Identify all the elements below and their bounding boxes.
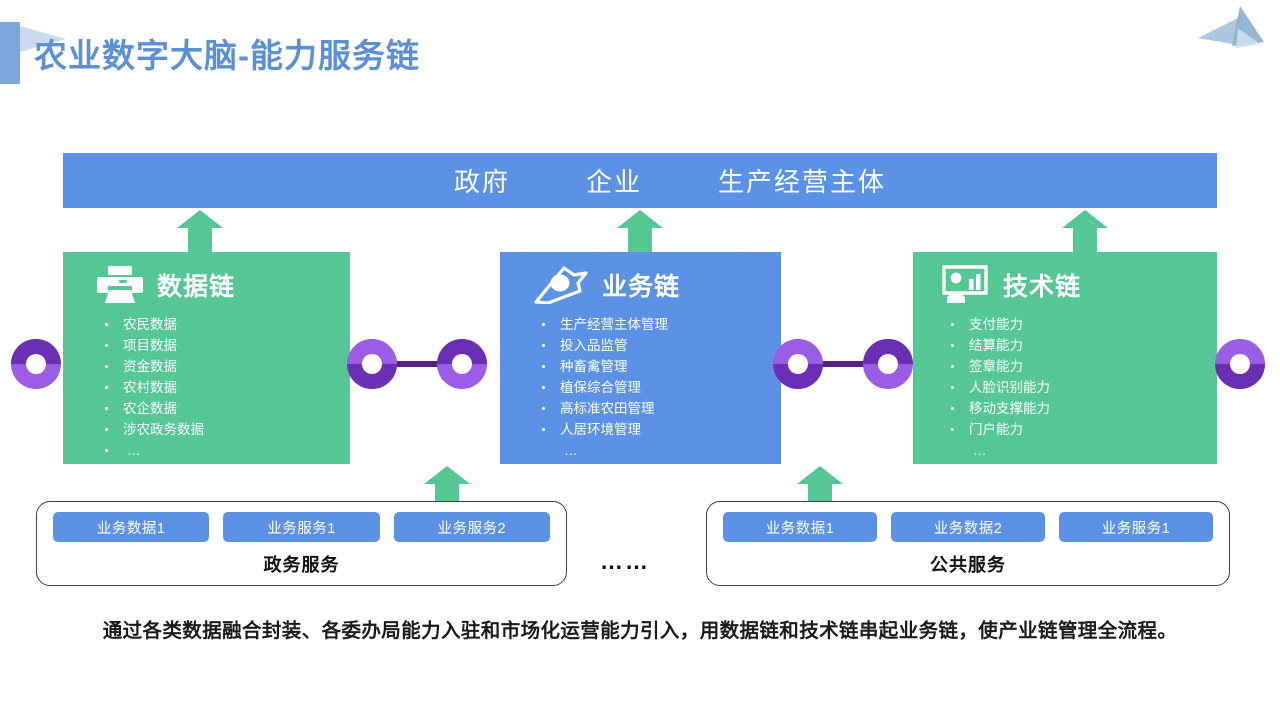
chain-item: 人脸识别能力 <box>943 377 1217 398</box>
chain-list-business: 生产经营主体管理 投入品监管 种畜禽管理 植保综合管理 高标准农田管理 人居环境… <box>500 314 781 461</box>
service-chip[interactable]: 业务服务1 <box>1059 512 1213 542</box>
chain-link-data-to-business <box>344 336 490 397</box>
chain-ring-icon <box>8 336 64 392</box>
title-bar: 农业数字大脑-能力服务链 <box>0 22 420 84</box>
chain-ring-icon <box>1212 336 1268 392</box>
service-chip-row: 业务数据1 业务数据2 业务服务1 <box>707 502 1229 542</box>
service-group-separator: …… <box>600 548 650 575</box>
chain-item: 农村数据 <box>97 377 350 398</box>
arrow-up-icon <box>617 210 663 252</box>
chain-box-business: 业务链 生产经营主体管理 投入品监管 种畜禽管理 植保综合管理 高标准农田管理 … <box>500 252 781 464</box>
chain-item: 高标准农田管理 <box>534 398 781 419</box>
chain-item: 农企数据 <box>97 398 350 419</box>
title-accent-bar <box>0 22 20 84</box>
page-title: 农业数字大脑-能力服务链 <box>34 29 420 77</box>
consumer-enterprise: 企业 <box>586 162 642 199</box>
chain-item: 生产经营主体管理 <box>534 314 781 335</box>
chain-item: 植保综合管理 <box>534 377 781 398</box>
service-chip[interactable]: 业务服务2 <box>394 512 550 542</box>
chain-header-tech: 技术链 <box>913 262 1217 308</box>
chain-item: 资金数据 <box>97 356 350 377</box>
chain-box-tech: 技术链 支付能力 结算能力 签章能力 人脸识别能力 移动支撑能力 门户能力 … <box>913 252 1217 464</box>
service-chip-row: 业务数据1 业务服务1 业务服务2 <box>37 502 566 542</box>
consumer-government: 政府 <box>454 162 510 199</box>
presentation-chart-icon <box>941 265 989 305</box>
pen-nib-icon <box>534 266 588 304</box>
service-chip[interactable]: 业务数据1 <box>723 512 877 542</box>
chain-item: 项目数据 <box>97 335 350 356</box>
chain-item: 涉农政务数据 <box>97 419 350 440</box>
chain-list-data: 农民数据 项目数据 资金数据 农村数据 农企数据 涉农政务数据 … <box>63 314 350 461</box>
service-group-public: 业务数据1 业务数据2 业务服务1 公共服务 <box>706 501 1230 586</box>
service-chip[interactable]: 业务数据2 <box>891 512 1045 542</box>
service-group-label-government: 政务服务 <box>37 551 566 577</box>
chain-double-ring-icon <box>344 336 490 392</box>
arrow-up-icon <box>177 210 223 252</box>
chain-link-business-to-tech <box>770 336 916 397</box>
chain-item: 移动支撑能力 <box>943 398 1217 419</box>
chain-link-left-edge <box>8 336 64 397</box>
arrow-up-business-to-consumer <box>617 210 663 252</box>
chain-title-business: 业务链 <box>602 267 680 303</box>
chain-item: 农民数据 <box>97 314 350 335</box>
chain-box-data: 数据链 农民数据 项目数据 资金数据 农村数据 农企数据 涉农政务数据 … <box>63 252 350 464</box>
chain-title-tech: 技术链 <box>1003 267 1081 303</box>
chain-item: 结算能力 <box>943 335 1217 356</box>
corner-triangles-icon <box>1182 2 1272 54</box>
chain-item: 投入品监管 <box>534 335 781 356</box>
service-chip[interactable]: 业务服务1 <box>223 512 379 542</box>
chain-item-more: … <box>97 440 350 461</box>
arrow-up-data-to-consumer <box>177 210 223 252</box>
chain-item: 门户能力 <box>943 419 1217 440</box>
service-chip[interactable]: 业务数据1 <box>53 512 209 542</box>
chain-list-tech: 支付能力 结算能力 签章能力 人脸识别能力 移动支撑能力 门户能力 … <box>913 314 1217 461</box>
chain-item: 签章能力 <box>943 356 1217 377</box>
printer-icon <box>97 266 143 304</box>
summary-caption: 通过各类数据融合封装、各委办局能力入驻和市场化运营能力引入，用数据链和技术链串起… <box>0 614 1280 643</box>
service-group-label-public: 公共服务 <box>707 551 1229 577</box>
chain-item-more: … <box>943 440 1217 461</box>
chain-item-more: … <box>534 440 781 461</box>
corner-decoration <box>1182 2 1272 54</box>
chain-link-right-edge <box>1212 336 1268 397</box>
consumer-bar: 政府 企业 生产经营主体 <box>63 153 1217 208</box>
chain-item: 人居环境管理 <box>534 419 781 440</box>
chain-header-data: 数据链 <box>63 262 350 308</box>
arrow-up-icon <box>1062 210 1108 252</box>
consumer-production-entity: 生产经营主体 <box>718 162 886 199</box>
chain-item: 支付能力 <box>943 314 1217 335</box>
chain-header-business: 业务链 <box>500 262 781 308</box>
arrow-up-tech-to-consumer <box>1062 210 1108 252</box>
chain-item: 种畜禽管理 <box>534 356 781 377</box>
service-group-government: 业务数据1 业务服务1 业务服务2 政务服务 <box>36 501 567 586</box>
chain-double-ring-icon <box>770 336 916 392</box>
chain-title-data: 数据链 <box>157 267 235 303</box>
